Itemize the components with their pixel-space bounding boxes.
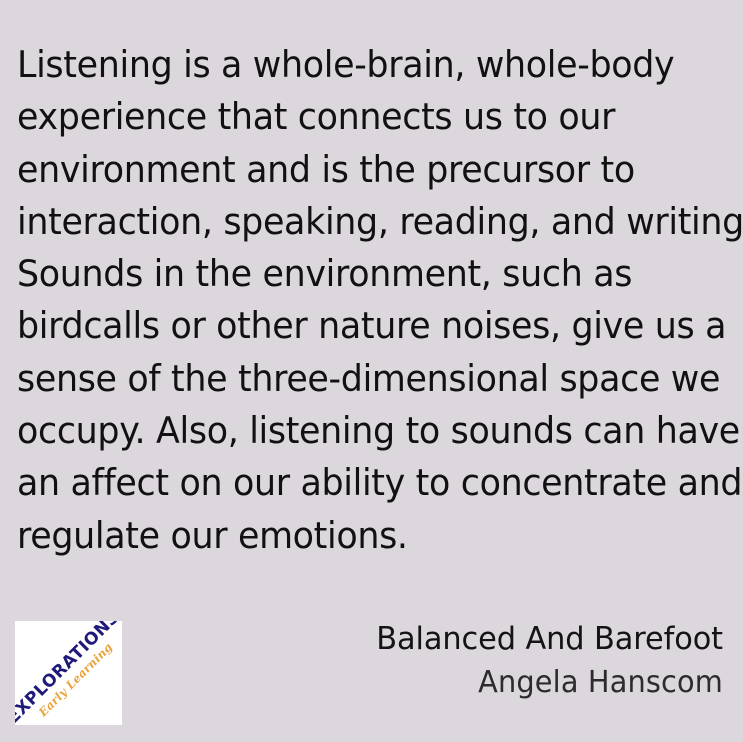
- quote-line: experience that connects us to our: [17, 91, 697, 143]
- quote-card: Listening is a whole-brain, whole-body e…: [0, 0, 743, 742]
- quote-line: interaction, speaking, reading, and writ…: [17, 196, 697, 248]
- logo-wordmark-text: EXPLORATIONS: [15, 621, 122, 725]
- quote-line: Listening is a whole-brain, whole-body: [17, 39, 697, 91]
- logo-lockup: EXPLORATIONS Early Learning: [15, 621, 122, 725]
- quote-line: sense of the three-dimensional space we: [17, 353, 697, 405]
- quote-line: occupy. Also, listening to sounds can ha…: [17, 405, 697, 457]
- quote-text-block: Listening is a whole-brain, whole-body e…: [17, 39, 729, 562]
- quote-line: environment and is the precursor to: [17, 144, 697, 196]
- source-title: Balanced And Barefoot: [174, 617, 723, 661]
- author-name: Angela Hanscom: [185, 661, 723, 705]
- quote-line: Sounds in the environment, such as: [17, 248, 697, 300]
- attribution-block: Balanced And Barefoot Angela Hanscom: [163, 617, 723, 705]
- quote-line: an affect on our ability to concentrate …: [17, 457, 697, 509]
- quote-line: regulate our emotions.: [17, 510, 697, 562]
- quote-line: birdcalls or other nature noises, give u…: [17, 300, 697, 352]
- explorations-early-learning-logo: EXPLORATIONS Early Learning: [15, 621, 122, 725]
